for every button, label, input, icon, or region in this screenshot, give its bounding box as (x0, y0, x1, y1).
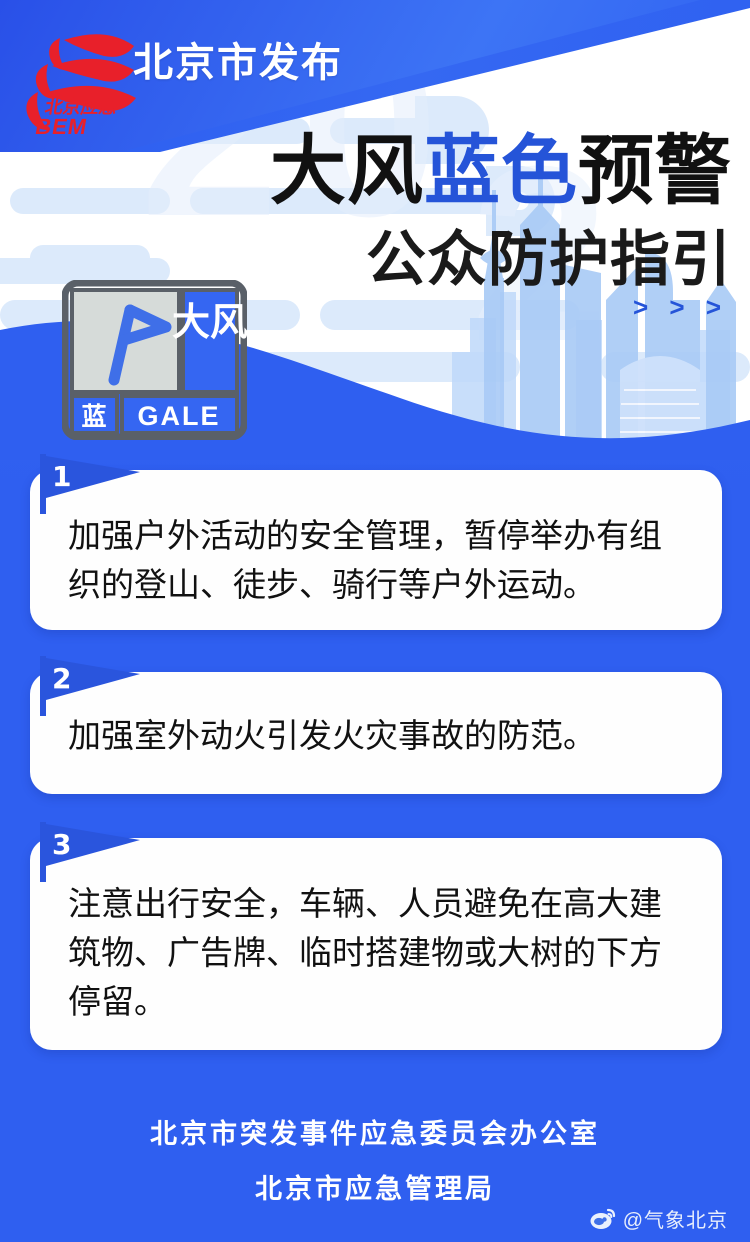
chevron-right-icon: > > > (633, 292, 728, 323)
card-number: 1 (52, 460, 71, 493)
card-number: 2 (52, 662, 71, 695)
sign-level-cn: 蓝 (81, 403, 106, 431)
footer-line-2: 北京市应急管理局 (0, 1167, 750, 1206)
guidance-card: 2 加强室外动火引发火灾事故的防范。 (30, 672, 722, 794)
guidance-card: 1 加强户外活动的安全管理，暂停举办有组织的登山、徒步、骑行等户外运动。 (30, 470, 722, 630)
title-part1: 大风 (270, 129, 424, 214)
gale-warning-sign: 大风 蓝 GALE (62, 280, 247, 440)
card-number: 3 (52, 828, 71, 861)
guidance-card: 3 注意出行安全，车辆、人员避免在高大建筑物、广告牌、临时搭建物或大树的下方停留… (30, 838, 722, 1050)
bem-logo: 北京应急 BEM (26, 22, 148, 140)
weibo-watermark: @气象北京 (590, 1204, 728, 1233)
logo-en-text: BEM (33, 114, 89, 139)
title-part2: 预警 (578, 129, 732, 214)
sign-hazard-en: GALE (137, 401, 220, 431)
publisher-title: 北京市发布 (133, 30, 343, 88)
warning-poster: 2 0 2 (0, 0, 750, 1242)
weibo-handle: @气象北京 (623, 1204, 728, 1233)
page-title: 大风蓝色预警 (270, 132, 732, 212)
footer-line-1: 北京市突发事件应急委员会办公室 (0, 1112, 750, 1151)
page-subtitle: 公众防护指引 (366, 228, 732, 291)
weibo-icon (590, 1208, 616, 1230)
title-highlight: 蓝色 (424, 129, 578, 214)
sign-hazard-cn: 大风 (172, 302, 247, 344)
